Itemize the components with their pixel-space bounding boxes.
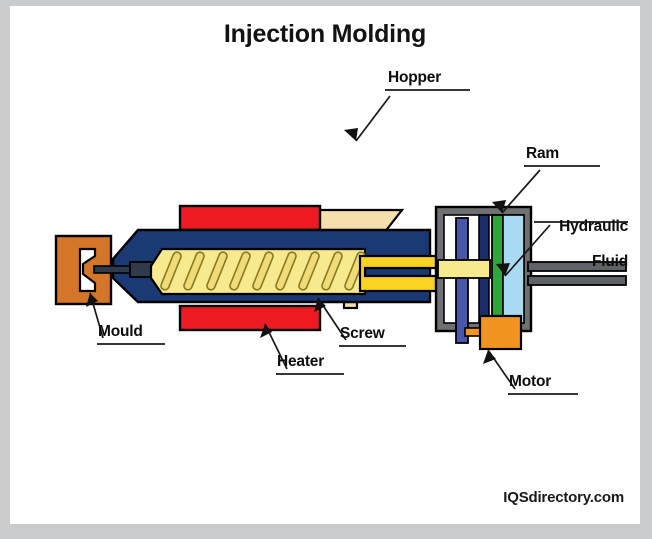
figure-root: Injection Molding <box>0 0 652 539</box>
label-mould: Mould <box>98 323 143 340</box>
watermark-footer: IQSdirectory.com <box>503 489 624 506</box>
piston-bar <box>456 218 468 343</box>
label-hydraulic-fluid: Hydraulic Fluid <box>480 201 628 288</box>
heater-top-block <box>180 206 320 230</box>
label-hopper: Hopper <box>388 69 441 86</box>
heater-bottom-block <box>180 306 320 330</box>
leader-hopper <box>356 96 390 141</box>
label-hydraulic-fluid-line1: Hydraulic <box>559 218 628 235</box>
label-motor: Motor <box>509 373 551 390</box>
label-screw: Screw <box>340 325 385 342</box>
label-ram: Ram <box>526 145 559 162</box>
label-hydraulic-fluid-line2: Fluid <box>592 253 628 270</box>
diagram-canvas: Injection Molding <box>10 6 640 524</box>
label-heater: Heater <box>277 353 324 370</box>
